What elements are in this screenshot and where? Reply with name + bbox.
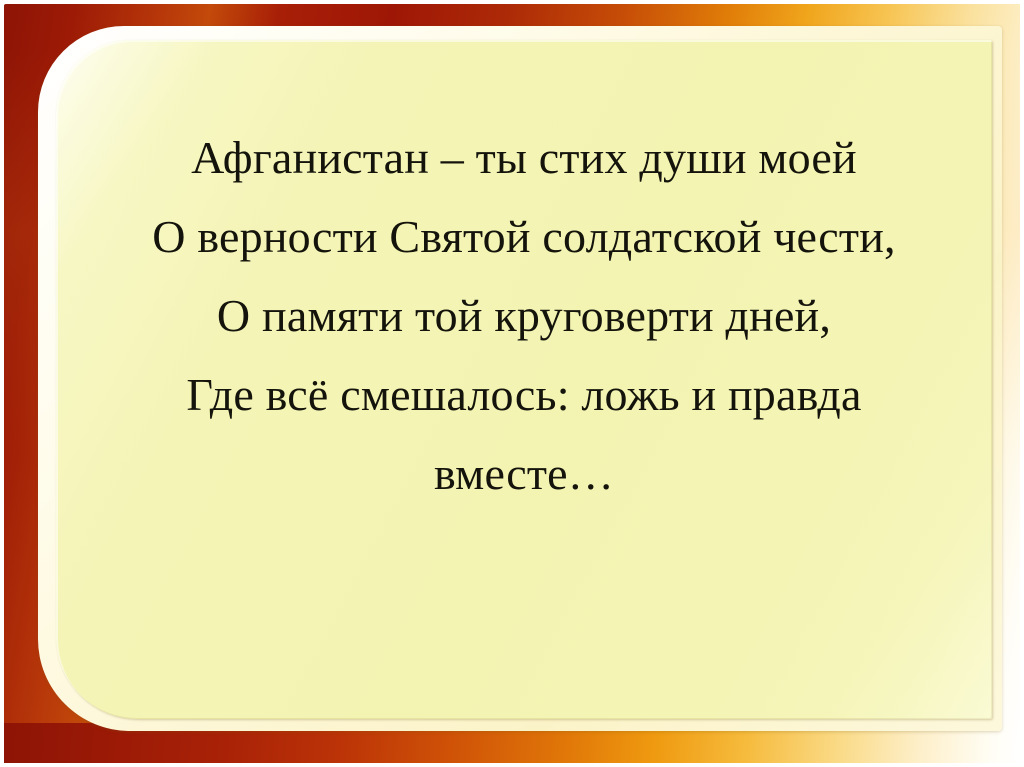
- poem-line: О памяти той круговерти дней,: [82, 276, 966, 355]
- content-card: Афганистан – ты стих души моей О верност…: [56, 40, 992, 719]
- poem-line: вместе…: [82, 434, 966, 513]
- poem-text-block: Афганистан – ты стих души моей О верност…: [56, 118, 992, 513]
- slide-canvas: Афганистан – ты стих души моей О верност…: [0, 0, 1024, 767]
- poem-line: Где всё смешалось: ложь и правда: [82, 355, 966, 434]
- poem-line: О верности Святой солдатской чести,: [82, 197, 966, 276]
- poem-line: Афганистан – ты стих души моей: [82, 118, 966, 197]
